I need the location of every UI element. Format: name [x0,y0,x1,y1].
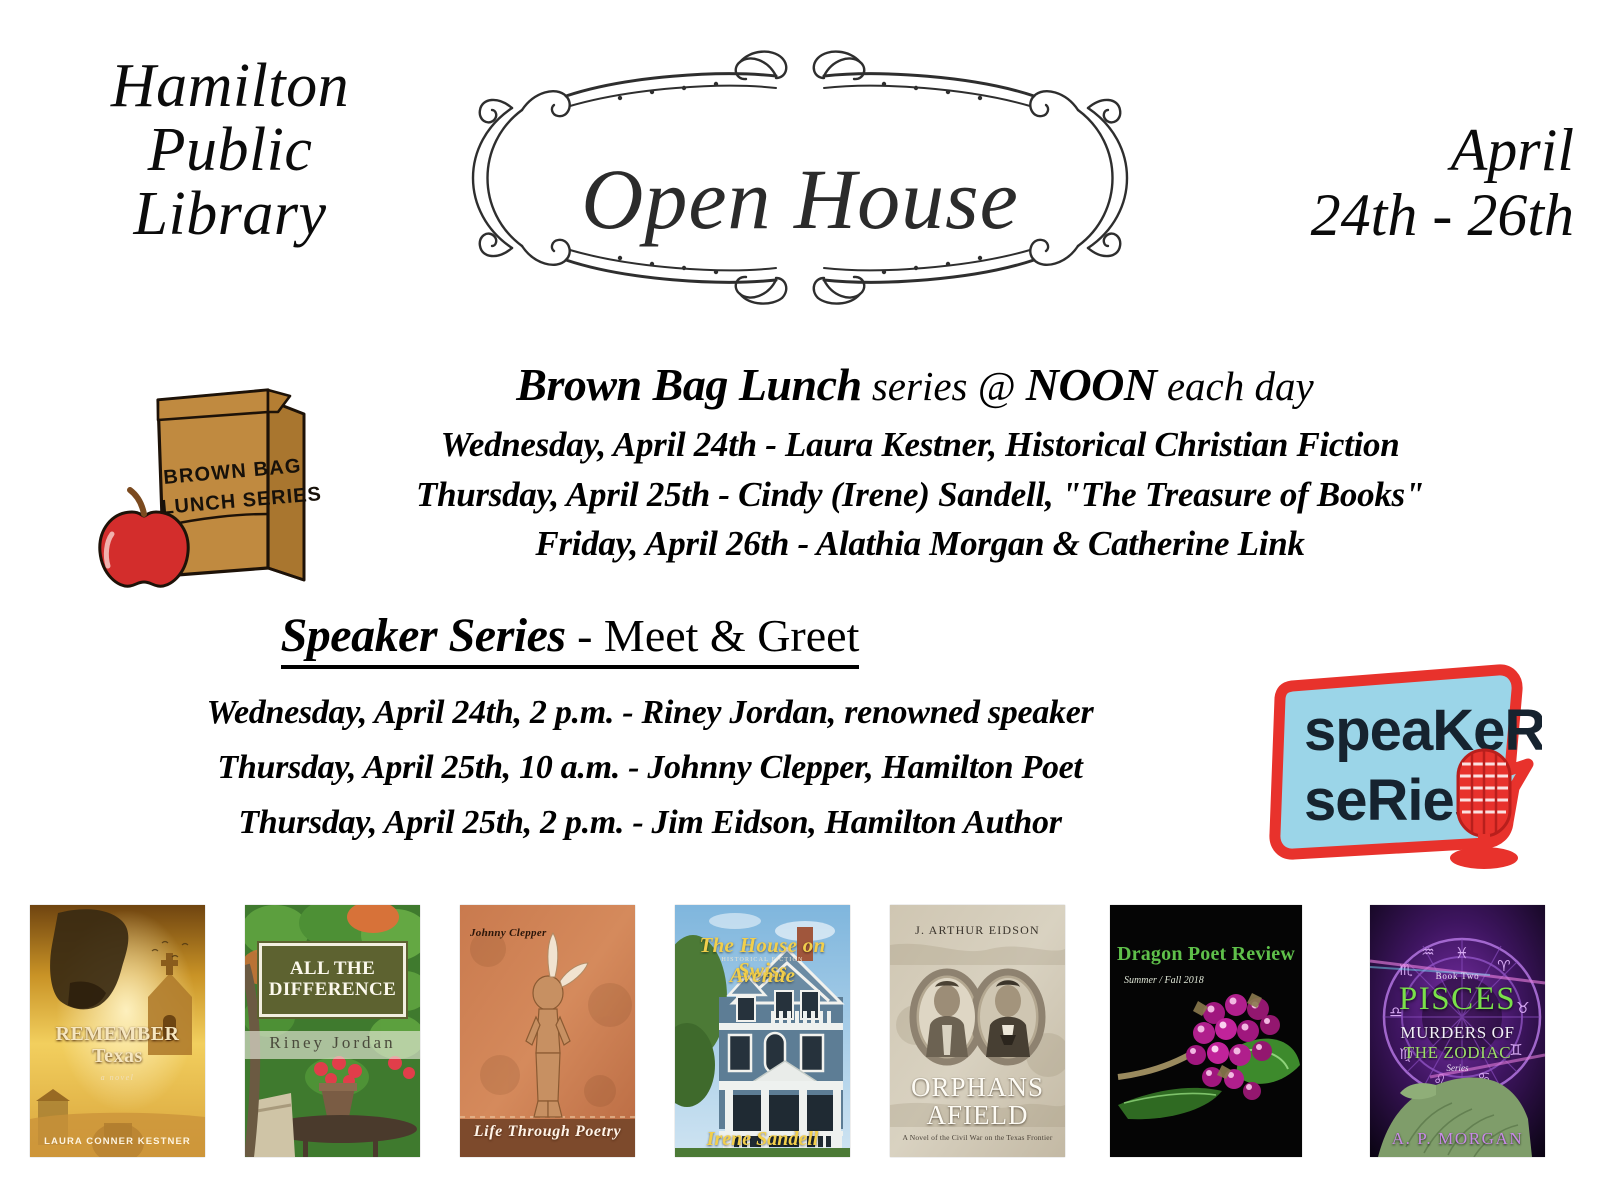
book-cover[interactable]: Johnny Clepper Life Through Poetry [460,905,635,1157]
svg-text:♒: ♒ [1421,943,1434,961]
book-title: ALL THE DIFFERENCE [269,959,397,1001]
book-title-line-1: ALL THE [290,958,375,979]
speaker-series-entry: Thursday, April 25th, 2 p.m. - Jim Eidso… [120,795,1180,850]
book-cover[interactable]: J. ARTHUR EIDSON ORPHANS AFIELD A Novel … [890,905,1065,1157]
book-cover-strip: REMEMBER Texas a novel LAURA CONNER KEST… [0,905,1600,1167]
book-cover-art [460,905,635,1157]
event-date-month: April [1174,118,1574,183]
book-cover[interactable]: Dragon Poet Review Summer / Fall 2018 [1110,905,1302,1157]
open-house-emblem: Open House [420,48,1180,306]
open-house-poster: Hamilton Public Library [0,0,1600,1200]
brown-bag-entry: Friday, April 26th - Alathia Morgan & Ca… [360,519,1480,569]
book-title-line-2: Avenue [675,963,850,988]
speaker-series-logo-line-1: speaKeR [1304,698,1542,763]
author-band [245,1031,420,1059]
speech-bubble-microphone-icon: speaKeR seRies [1252,652,1542,877]
brown-bag-illustration: BROWN BAG LUNCH SERIES [72,362,362,592]
speaker-series-logo: speaKeR seRies [1252,652,1542,877]
book-cover-art [30,905,205,1157]
paper-bag-with-apple-icon: BROWN BAG LUNCH SERIES [72,362,362,592]
event-date-range: 24th - 26th [1174,183,1574,248]
event-dates: April 24th - 26th [1174,118,1574,248]
book-cover[interactable]: ♓♈♉ ♊♋♌ ♍♎♏ ♒ [1370,905,1545,1157]
event-title: Open House [420,156,1180,242]
speaker-series-entry: Wednesday, April 24th, 2 p.m. - Riney Jo… [120,685,1180,740]
book-series-line-2: THE ZODIAC [1370,1043,1545,1063]
book-title-line-2: DIFFERENCE [269,979,397,1000]
library-name-line-2: Public [40,119,420,183]
svg-text:♉: ♉ [1516,999,1529,1017]
library-name: Hamilton Public Library [40,55,420,247]
svg-text:♎: ♎ [1389,1003,1402,1021]
brown-bag-entry: Wednesday, April 24th - Laura Kestner, H… [360,420,1480,470]
speaker-series-heading-strong: Speaker Series [281,609,566,662]
book-series-line-1: MURDERS OF [1370,1023,1545,1043]
brown-bag-heading: Brown Bag Lunch series @ NOON each day [360,358,1470,411]
book-cover-art [890,905,1065,1157]
book-cover[interactable]: REMEMBER Texas a novel LAURA CONNER KEST… [30,905,205,1157]
brown-bag-heading-strong-2: NOON [1026,359,1157,410]
book-series-line-3: Series [1370,1063,1545,1073]
brown-bag-heading-light-2: each day [1157,363,1314,409]
speaker-series-heading-light: - Meet & Greet [566,610,860,661]
brown-bag-heading-strong-1: Brown Bag Lunch [516,359,861,410]
library-name-line-3: Library [40,183,420,247]
brown-bag-entry: Thursday, April 25th - Cindy (Irene) San… [360,470,1480,520]
svg-text:♈: ♈ [1497,957,1510,975]
book-cover-art [1110,905,1302,1157]
book-cover[interactable]: The House on Swiss Avenue HISTORICAL FIC… [675,905,850,1157]
brown-bag-schedule: Wednesday, April 24th - Laura Kestner, H… [360,420,1480,569]
title-box: ALL THE DIFFERENCE [259,943,406,1017]
book-cover[interactable]: ALL THE DIFFERENCE Riney Jordan [245,905,420,1157]
brown-bag-heading-light-1: series @ [862,363,1026,409]
speaker-series-entry: Thursday, April 25th, 10 a.m. - Johnny C… [120,740,1180,795]
svg-text:♓: ♓ [1455,944,1468,962]
speaker-series-schedule: Wednesday, April 24th, 2 p.m. - Riney Jo… [120,685,1180,850]
speaker-series-heading: Speaker Series - Meet & Greet [130,608,1010,669]
library-name-line-1: Hamilton [40,55,420,119]
